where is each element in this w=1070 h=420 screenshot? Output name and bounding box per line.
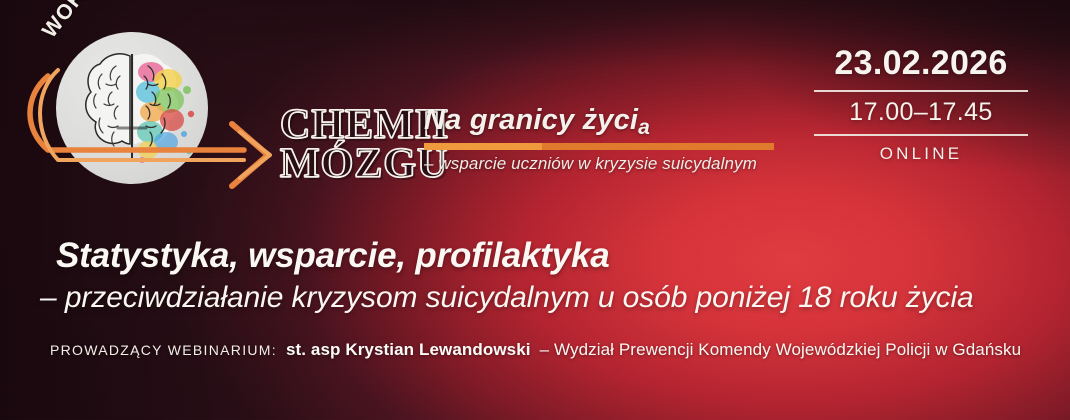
date-divider-top xyxy=(814,90,1028,92)
event-mode: ONLINE xyxy=(814,144,1028,164)
event-details-block: 23.02.2026 17.00–17.45 ONLINE xyxy=(814,46,1028,164)
tagline-main: Na granicy życia xyxy=(424,104,794,140)
brand-logo: WOKÓŁ CHEMII MÓZGU xyxy=(18,10,418,195)
page-subtitle: – przeciwdziałanie kryzysom suicydalnym … xyxy=(40,281,974,315)
event-tagline: Na granicy życia – wsparcie uczniów w kr… xyxy=(424,104,794,174)
page-title: Statystyka, wsparcie, profilaktyka xyxy=(56,236,609,276)
date-divider-bottom xyxy=(814,134,1028,136)
webinar-banner: WOKÓŁ CHEMII MÓZGU Na granicy życia xyxy=(0,0,1070,420)
right-arrow-icon xyxy=(18,62,298,182)
event-time: 17.00–17.45 xyxy=(814,99,1028,127)
tagline-main-tail: a xyxy=(638,116,650,140)
presenter-name: st. asp Krystian Lewandowski xyxy=(286,340,531,360)
tagline-underline-right xyxy=(542,143,774,150)
tagline-subtitle: – wsparcie uczniów w kryzysie suicydalny… xyxy=(424,154,794,174)
presenter-organisation: – Wydział Prewencji Komendy Wojewódzkiej… xyxy=(540,340,1022,360)
tagline-underline-left xyxy=(424,143,542,150)
tagline-underline xyxy=(424,143,774,150)
presenter-line: PROWADZĄCY WEBINARIUM: st. asp Krystian … xyxy=(50,340,1021,360)
event-date: 23.02.2026 xyxy=(814,46,1028,82)
presenter-label: PROWADZĄCY WEBINARIUM: xyxy=(50,342,277,358)
tagline-main-text: Na granicy życi xyxy=(424,104,638,136)
